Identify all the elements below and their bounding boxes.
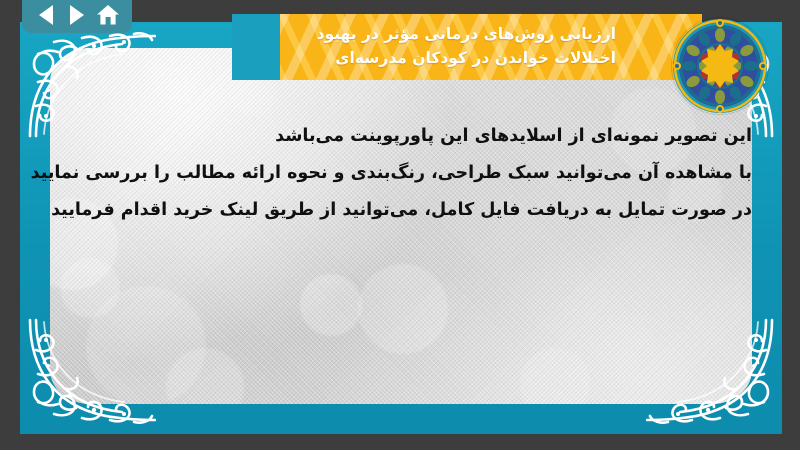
home-button[interactable]: [95, 2, 121, 28]
bokeh-circle: [358, 264, 448, 354]
bokeh-circle: [166, 348, 244, 404]
presentation-slide: این تصویر نمونه‌ای از اسلایدهای این پاور…: [20, 22, 782, 434]
bokeh-circle: [86, 286, 206, 404]
slide-title: ارزیابی روش‌های درمانی مؤثر در بهبود اخت…: [232, 23, 702, 70]
body-line-2: با مشاهده آن می‌توانید سبک طراحی، رنگ‌بن…: [112, 155, 752, 192]
home-icon: [96, 4, 120, 26]
bokeh-circle: [300, 274, 362, 336]
next-slide-button[interactable]: [64, 2, 90, 28]
body-line-1: این تصویر نمونه‌ای از اسلایدهای این پاور…: [112, 118, 752, 155]
triangle-right-icon: [70, 5, 84, 25]
bokeh-circle: [60, 258, 120, 318]
title-line-2: اختلالات خواندن در کودکان مدرسه‌ای: [242, 47, 616, 71]
body-line-3: در صورت تمایل به دریافت فایل کامل، می‌تو…: [112, 192, 752, 229]
previous-slide-button[interactable]: [33, 2, 59, 28]
triangle-left-icon: [39, 5, 53, 25]
persian-mandala-medallion: [672, 18, 768, 114]
title-line-1: ارزیابی روش‌های درمانی مؤثر در بهبود: [242, 23, 616, 47]
slide-title-banner: ارزیابی روش‌های درمانی مؤثر در بهبود اخت…: [232, 14, 702, 80]
slide-body-text: این تصویر نمونه‌ای از اسلایدهای این پاور…: [112, 118, 752, 229]
navigation-toolbar: [22, 0, 132, 33]
bokeh-circle: [520, 348, 590, 404]
slide-viewer: این تصویر نمونه‌ای از اسلایدهای این پاور…: [0, 0, 800, 450]
